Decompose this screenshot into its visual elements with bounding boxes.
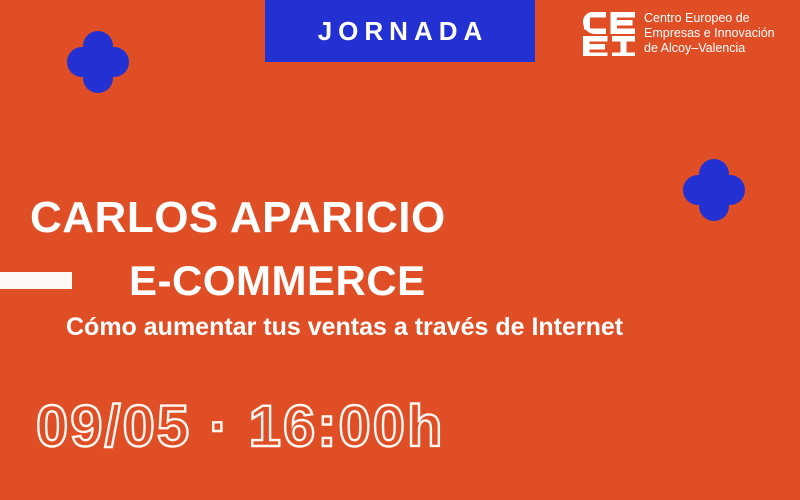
jornada-banner: JORNADA xyxy=(265,0,535,62)
tagline: Cómo aumentar tus ventas a través de Int… xyxy=(66,314,623,342)
event-datetime: 09/05 · 16:00h xyxy=(36,398,444,456)
event-poster: JORNADA Centro Europeo de Empresas e Inn… xyxy=(0,0,800,500)
ceei-name-line-2: Empresas e Innovación xyxy=(644,26,775,41)
ceei-name-line-1: Centro Europeo de xyxy=(644,11,775,26)
clover-icon xyxy=(63,27,133,97)
clover-icon xyxy=(679,155,749,225)
ceei-logo: Centro Europeo de Empresas e Innovación … xyxy=(583,11,775,56)
speaker-name: CARLOS APARICIO xyxy=(30,196,446,240)
jornada-label: JORNADA xyxy=(312,18,489,44)
ceei-logo-name: Centro Europeo de Empresas e Innovación … xyxy=(644,11,775,56)
ceei-monogram-icon xyxy=(583,12,635,56)
topic-title: E-COMMERCE xyxy=(129,260,426,302)
ceei-name-line-3: de Alcoy–Valencia xyxy=(644,41,775,56)
decorative-rule-bar xyxy=(0,272,72,289)
